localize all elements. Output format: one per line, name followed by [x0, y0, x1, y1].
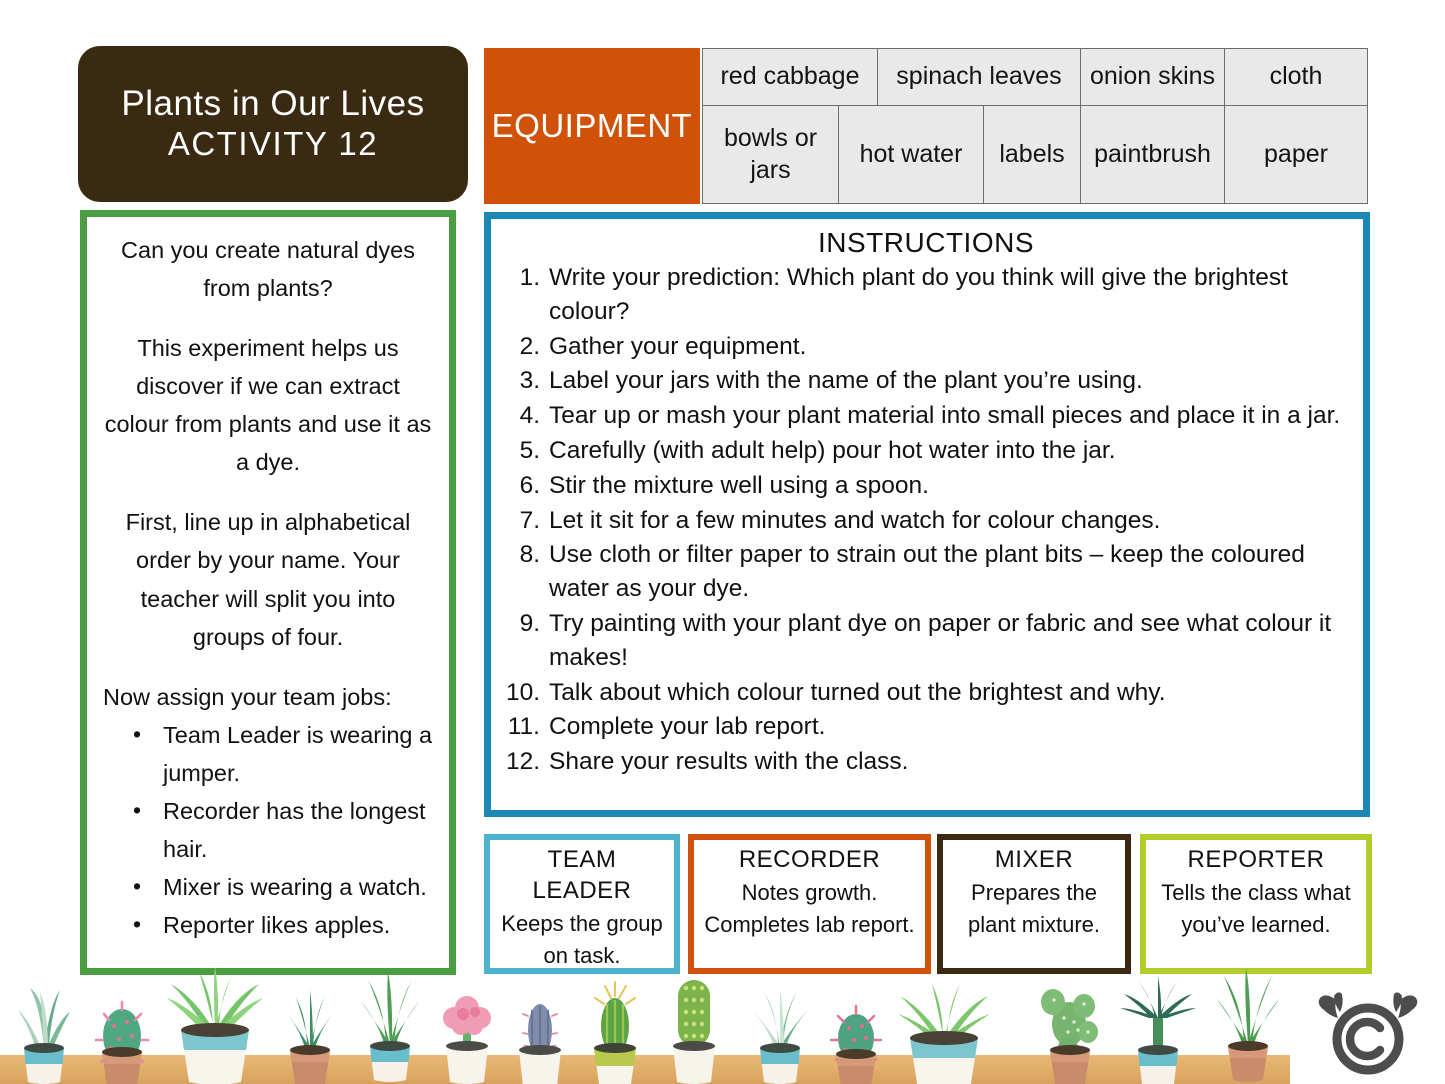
step-text: Let it sit for a few minutes and watch f…	[549, 504, 1349, 538]
step-text: Use cloth or filter paper to strain out …	[549, 538, 1349, 606]
plant-snake	[286, 990, 334, 1084]
step-number: 2.	[503, 330, 549, 364]
plant-grass	[167, 968, 263, 1084]
question-paragraph-2: First, line up in alphabetical order by …	[103, 503, 433, 655]
step-text: Tear up or mash your plant material into…	[549, 399, 1349, 433]
team-jobs-list: Team Leader is wearing a jumper. Recorde…	[133, 716, 433, 944]
role-description: Tells the class what you’ve learned.	[1152, 877, 1360, 941]
step-number: 8.	[503, 538, 549, 572]
equipment-item: red cabbage	[703, 49, 878, 105]
equipment-row: red cabbage spinach leaves onion skins c…	[703, 49, 1367, 106]
instruction-step: 8. Use cloth or filter paper to strain o…	[503, 538, 1349, 606]
instruction-step: 7. Let it sit for a few minutes and watc…	[503, 504, 1349, 538]
copyright-moose-logo	[1312, 988, 1424, 1078]
instructions-title: INSTRUCTIONS	[503, 227, 1349, 259]
instruction-step: 3. Label your jars with the name of the …	[503, 364, 1349, 398]
equipment-item: spinach leaves	[878, 49, 1081, 105]
role-description: Keeps the group on task.	[496, 908, 668, 972]
step-number: 4.	[503, 399, 549, 433]
instruction-step: 10. Talk about which colour turned out t…	[503, 676, 1349, 710]
instruction-step: 5. Carefully (with adult help) pour hot …	[503, 434, 1349, 468]
equipment-item: labels	[984, 106, 1081, 203]
plant-succulent	[18, 988, 70, 1084]
plant-cactus	[594, 982, 636, 1084]
equipment-item: bowls or jars	[703, 106, 839, 203]
instruction-step: 9. Try painting with your plant dye on p…	[503, 607, 1349, 675]
worksheet-title: Plants in Our Lives	[121, 86, 424, 123]
step-number: 1.	[503, 261, 549, 295]
plant-sansevieria	[360, 972, 420, 1082]
step-text: Carefully (with adult help) pour hot wat…	[549, 434, 1349, 468]
plant-cactus	[519, 1004, 561, 1084]
list-item: Team Leader is wearing a jumper.	[133, 716, 433, 792]
plant-succulent	[752, 990, 808, 1084]
title-card: Plants in Our Lives ACTIVITY 12	[78, 46, 468, 202]
equipment-item: onion skins	[1081, 49, 1225, 105]
list-item: Mixer is wearing a watch.	[133, 868, 433, 906]
role-title: MIXER	[995, 844, 1074, 875]
instruction-step: 11. Complete your lab report.	[503, 710, 1349, 744]
step-text: Talk about which colour turned out the b…	[549, 676, 1349, 710]
plant-prickly-pear	[1041, 989, 1098, 1084]
role-card-reporter: REPORTER Tells the class what you’ve lea…	[1140, 834, 1372, 974]
activity-number: ACTIVITY 12	[168, 127, 378, 162]
role-description: Prepares the plant mixture.	[949, 877, 1119, 941]
step-text: Gather your equipment.	[549, 330, 1349, 364]
equipment-table: red cabbage spinach leaves onion skins c…	[702, 48, 1368, 204]
step-number: 7.	[503, 504, 549, 538]
instruction-step: 6. Stir the mixture well using a spoon.	[503, 469, 1349, 503]
step-number: 9.	[503, 607, 549, 641]
role-boxes: TEAM LEADER Keeps the group on task. REC…	[484, 834, 1372, 974]
instruction-step: 4. Tear up or mash your plant material i…	[503, 399, 1349, 433]
list-item: Reporter likes apples.	[133, 906, 433, 944]
plant-palm	[1120, 976, 1196, 1084]
equipment-item: hot water	[839, 106, 984, 203]
equipment-label-text: EQUIPMENT	[492, 107, 693, 145]
step-text: Share your results with the class.	[549, 745, 1349, 779]
question-paragraph-1: This experiment helps us discover if we …	[103, 329, 433, 481]
potted-plants-illustration	[0, 968, 1445, 1084]
step-number: 3.	[503, 364, 549, 398]
instructions-panel: INSTRUCTIONS 1. Write your prediction: W…	[484, 212, 1370, 817]
step-text: Write your prediction: Which plant do yo…	[549, 261, 1349, 329]
equipment-item: paintbrush	[1081, 106, 1225, 203]
step-number: 12.	[503, 745, 549, 779]
instruction-step: 2. Gather your equipment.	[503, 330, 1349, 364]
worksheet-page: Plants in Our Lives ACTIVITY 12 EQUIPMEN…	[0, 0, 1445, 1084]
role-title: REPORTER	[1188, 844, 1325, 875]
role-card-recorder: RECORDER Notes growth. Completes lab rep…	[688, 834, 931, 974]
list-item: Recorder has the longest hair.	[133, 792, 433, 868]
instructions-list: 1. Write your prediction: Which plant do…	[503, 261, 1349, 779]
instruction-step: 12. Share your results with the class.	[503, 745, 1349, 779]
role-title: RECORDER	[739, 844, 880, 875]
equipment-item: cloth	[1225, 49, 1367, 105]
role-card-mixer: MIXER Prepares the plant mixture.	[937, 834, 1131, 974]
step-number: 6.	[503, 469, 549, 503]
role-title: TEAM LEADER	[496, 844, 668, 906]
question-panel: Can you create natural dyes from plants?…	[80, 210, 456, 975]
role-card-team-leader: TEAM LEADER Keeps the group on task.	[484, 834, 680, 974]
equipment-row: bowls or jars hot water labels paintbrus…	[703, 106, 1367, 203]
step-text: Complete your lab report.	[549, 710, 1349, 744]
plant-cactus	[673, 980, 715, 1084]
step-number: 10.	[503, 676, 549, 710]
step-number: 5.	[503, 434, 549, 468]
plant-border-decoration	[0, 968, 1445, 1084]
step-text: Label your jars with the name of the pla…	[549, 364, 1349, 398]
copyright-icon	[1312, 988, 1424, 1078]
step-text: Stir the mixture well using a spoon.	[549, 469, 1349, 503]
team-jobs-heading: Now assign your team jobs:	[103, 678, 433, 716]
question-heading: Can you create natural dyes from plants?	[103, 231, 433, 307]
equipment-item: paper	[1225, 106, 1367, 203]
plant-cactus	[831, 1006, 881, 1084]
equipment-label: EQUIPMENT	[484, 48, 700, 204]
plant-grass	[898, 984, 990, 1084]
step-text: Try painting with your plant dye on pape…	[549, 607, 1349, 675]
plant-sansevieria	[1216, 968, 1280, 1082]
instruction-step: 1. Write your prediction: Which plant do…	[503, 261, 1349, 329]
role-description: Notes growth. Completes lab report.	[700, 877, 919, 941]
step-number: 11.	[503, 710, 549, 744]
plant-flowering	[443, 996, 491, 1084]
plant-cactus	[96, 1002, 148, 1084]
